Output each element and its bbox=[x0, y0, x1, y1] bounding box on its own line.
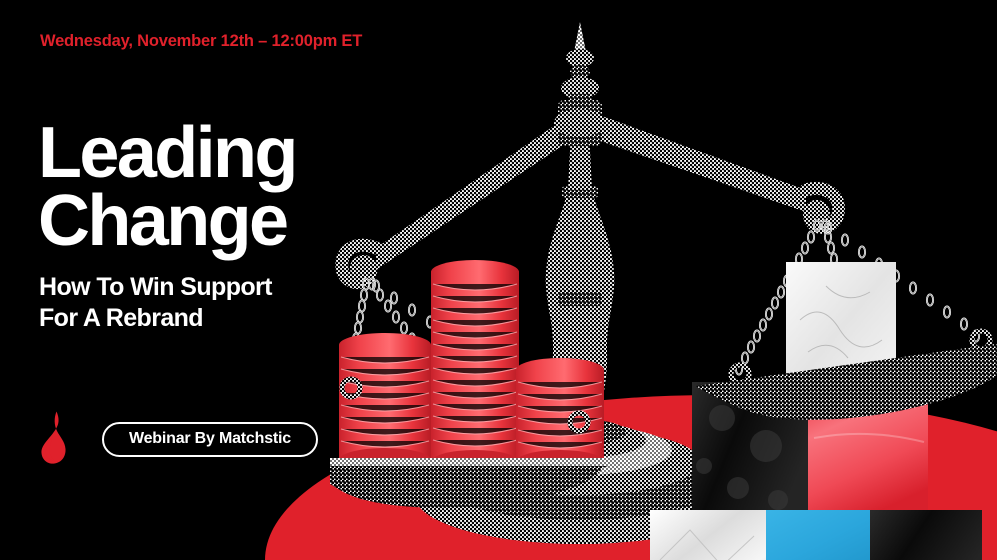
headline-line-1: Leading bbox=[38, 119, 296, 187]
page-subtitle: How To Win Support For A Rebrand bbox=[39, 272, 272, 333]
subheadline-line-2: For A Rebrand bbox=[39, 303, 272, 334]
coin-stack-short bbox=[516, 358, 604, 474]
blue-swatch bbox=[766, 510, 870, 560]
balance-scale-illustration bbox=[330, 0, 997, 560]
webinar-badge[interactable]: Webinar By Matchstic bbox=[102, 422, 318, 457]
right-pan-group bbox=[650, 220, 997, 560]
webinar-promo-poster: Wednesday, November 12th – 12:00pm ET Le… bbox=[0, 0, 997, 560]
coin-stack-tallest bbox=[431, 260, 519, 474]
scale-finial bbox=[561, 22, 599, 108]
event-date-time: Wednesday, November 12th – 12:00pm ET bbox=[40, 32, 362, 51]
headline-line-2: Change bbox=[38, 187, 296, 255]
matchstic-flame-logo-icon bbox=[30, 410, 74, 468]
poster-footer: Webinar By Matchstic bbox=[30, 410, 318, 468]
black-gradient-swatch bbox=[870, 510, 982, 560]
subheadline-line-1: How To Win Support bbox=[39, 272, 272, 303]
page-title: Leading Change bbox=[38, 119, 296, 256]
coin-stack-tall bbox=[339, 333, 431, 472]
webinar-badge-label: Webinar By Matchstic bbox=[129, 430, 291, 448]
